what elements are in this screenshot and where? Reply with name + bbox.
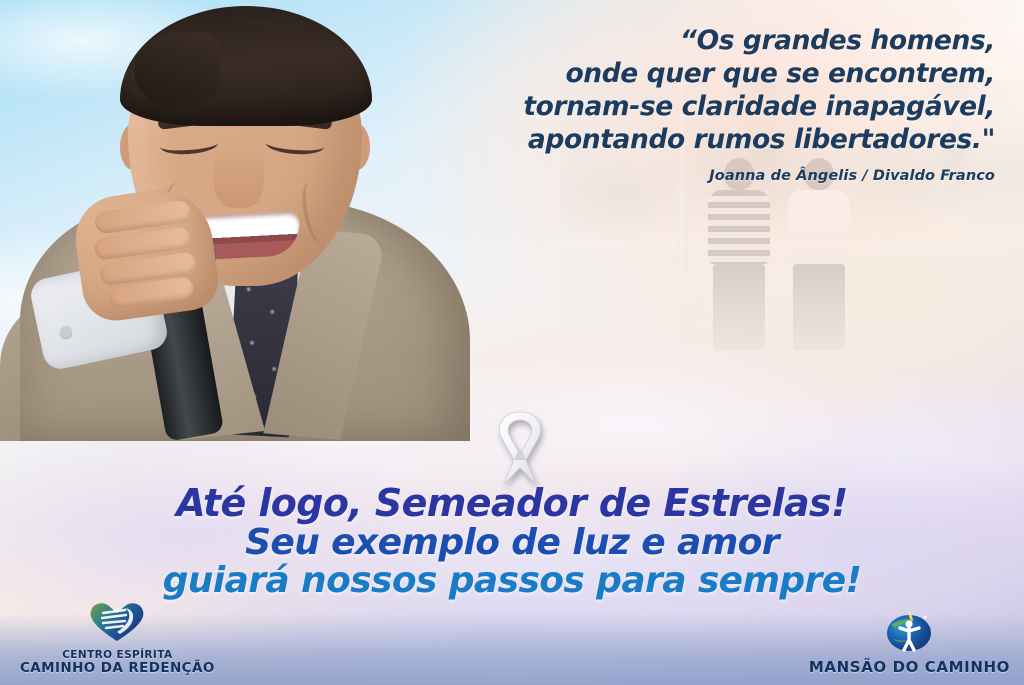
quote-line-3: tornam-se claridade inapagável,: [430, 90, 995, 123]
logo-left-text: CENTRO ESPÍRITA CAMINHO DA REDENÇÃO: [20, 649, 215, 677]
globe-figure-icon: [881, 607, 937, 657]
quote-line-2: onde quer que se encontrem,: [430, 57, 995, 90]
person-legs: [793, 264, 845, 350]
person-white-shirt: [788, 158, 850, 350]
portrait-photo: [0, 0, 480, 436]
quote-block: “Os grandes homens, onde quer que se enc…: [430, 24, 995, 184]
logo-centro-espirita-caminho-da-redencao: CENTRO ESPÍRITA CAMINHO DA REDENÇÃO: [20, 599, 215, 677]
mourning-ribbon-icon: [484, 406, 556, 490]
message-line-3: guiará nossos passos para sempre!: [0, 563, 1024, 600]
quote-line-1: “Os grandes homens,: [430, 24, 995, 57]
nose: [214, 146, 264, 208]
heart-hands-icon: [85, 599, 149, 647]
memorial-poster: “Os grandes homens, onde quer que se enc…: [0, 0, 1024, 685]
quote-attribution: Joanna de Ângelis / Divaldo Franco: [430, 168, 995, 184]
person-legs: [713, 264, 765, 350]
quote-line-4: apontando rumos libertadores.": [430, 123, 995, 156]
hair: [120, 6, 372, 126]
person-torso: [788, 190, 850, 264]
logo-mansao-do-caminho: MANSÃO DO CAMINHO: [809, 607, 1010, 677]
logo-right-name: MANSÃO DO CAMINHO: [809, 659, 1010, 677]
person-torso: [708, 190, 770, 264]
message-line-2: Seu exemplo de luz e amor: [0, 525, 1024, 562]
farewell-message: Até logo, Semeador de Estrelas! Seu exem…: [0, 484, 1024, 600]
logo-left-line-2: CAMINHO DA REDENÇÃO: [20, 661, 215, 677]
logo-right-text: MANSÃO DO CAMINHO: [809, 659, 1010, 677]
cuff-button: [60, 326, 72, 338]
person-striped-shirt: [708, 158, 770, 350]
message-line-1: Até logo, Semeador de Estrelas!: [0, 484, 1024, 523]
